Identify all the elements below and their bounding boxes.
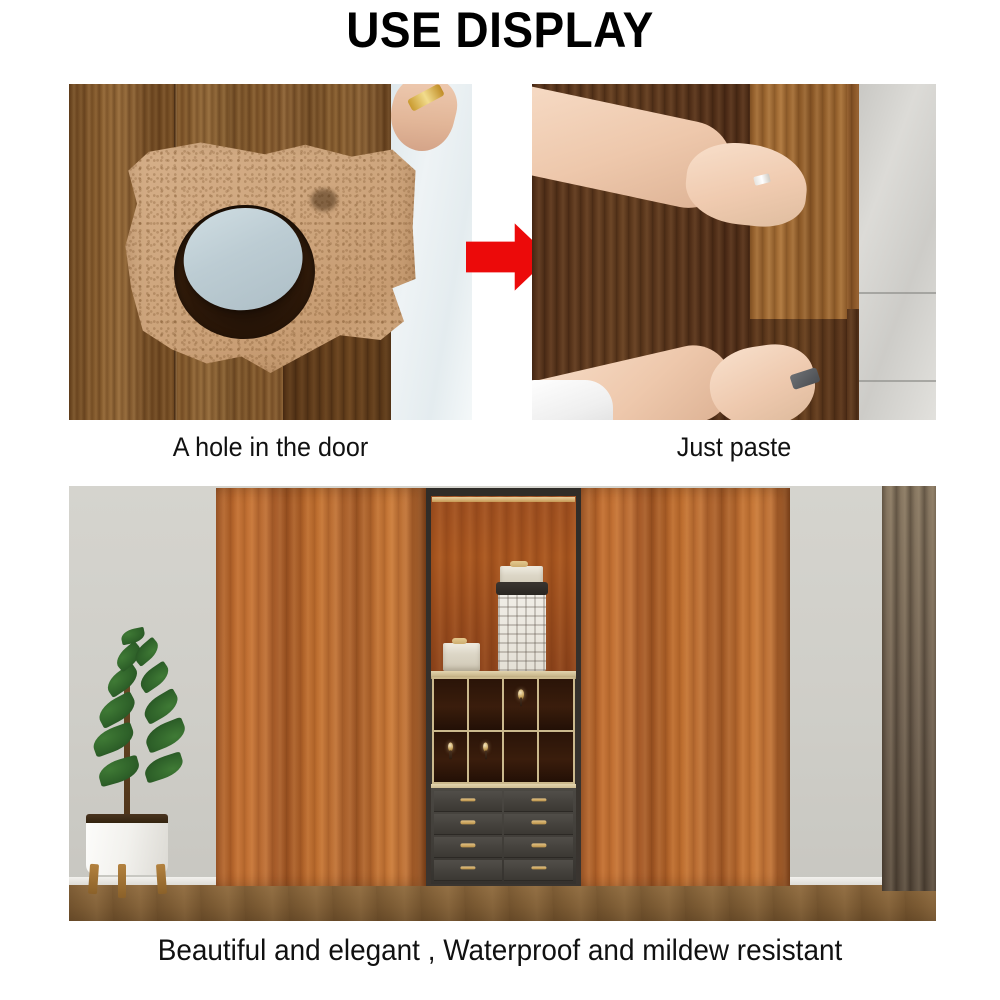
- wood-floor: [69, 885, 936, 921]
- damaged-door-photo: [69, 84, 472, 420]
- drawer[interactable]: [504, 860, 573, 881]
- window-curtain: [882, 486, 936, 891]
- watch-display: [481, 742, 491, 759]
- linen-top-item: [510, 561, 528, 567]
- wardrobe-door-left: [216, 488, 425, 886]
- drawer[interactable]: [504, 791, 573, 812]
- applying-sticker-photo: [532, 84, 936, 420]
- white-sleeve: [532, 380, 613, 420]
- watch-band: [485, 750, 487, 759]
- watch-band: [520, 698, 522, 707]
- cubby-cell: [469, 679, 502, 730]
- caption-after: Just paste: [546, 432, 922, 463]
- watch-display: [446, 742, 456, 759]
- cubby-cell: [434, 679, 467, 730]
- pot-leg: [118, 864, 127, 899]
- drawer-handle[interactable]: [531, 821, 546, 824]
- drawer[interactable]: [504, 837, 573, 858]
- product-display-page: USE DISPLAY: [0, 0, 1000, 1000]
- floor-line: [859, 380, 936, 382]
- drawer-handle[interactable]: [460, 798, 475, 801]
- pot-soil: [86, 814, 167, 823]
- shelf-contents: [432, 496, 575, 671]
- drawer[interactable]: [434, 814, 503, 835]
- drawer[interactable]: [504, 814, 573, 835]
- drawer-handle[interactable]: [460, 844, 475, 847]
- cubby-cell: [504, 679, 537, 730]
- patch-blemish: [311, 189, 337, 210]
- plaid-storage-basket: [498, 590, 546, 671]
- drawer[interactable]: [434, 791, 503, 812]
- drawer-handle[interactable]: [531, 798, 546, 801]
- watch-display: [516, 689, 526, 706]
- cubby-cell: [469, 732, 502, 783]
- drawer-handle[interactable]: [531, 844, 546, 847]
- caption-result: Beautiful and elegant , Waterproof and m…: [35, 934, 965, 968]
- watch-band: [449, 750, 451, 759]
- wardrobe-frame: [216, 488, 790, 886]
- wardrobe-open-section: [426, 488, 581, 886]
- floor-line: [859, 292, 936, 294]
- watch-cubby-grid: [432, 677, 575, 784]
- wardrobe-door-right: [581, 488, 790, 886]
- caption-before: A hole in the door: [83, 432, 458, 463]
- page-title: USE DISPLAY: [40, 2, 960, 58]
- basket-rim: [496, 582, 547, 595]
- drawer-handle[interactable]: [460, 867, 475, 870]
- cubby-cell: [504, 732, 537, 783]
- drawer[interactable]: [434, 837, 503, 858]
- drawer-handle[interactable]: [460, 821, 475, 824]
- folded-linen-stack: [443, 643, 480, 671]
- linen-top-item: [452, 638, 468, 645]
- drawer[interactable]: [434, 860, 503, 881]
- drawer-handle[interactable]: [531, 867, 546, 870]
- cubby-cell: [434, 732, 467, 783]
- cubby-cell: [539, 732, 572, 783]
- drawer-unit: [431, 788, 577, 884]
- floor-background: [859, 84, 936, 420]
- cubby-cell: [539, 679, 572, 730]
- wardrobe-room-photo: [69, 486, 936, 921]
